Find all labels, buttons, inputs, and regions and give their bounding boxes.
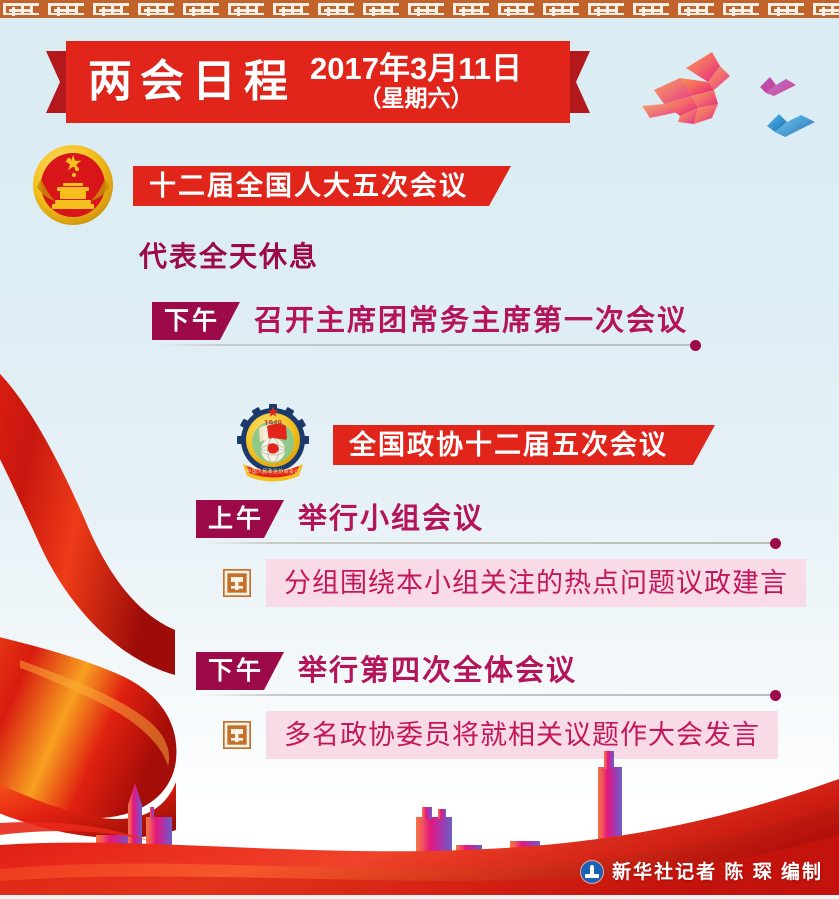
time-tag-morning-cppcc-label: 上午 <box>208 507 264 532</box>
cppcc-event-afternoon: 举行第四次全体会议 <box>298 657 577 686</box>
cppcc-event-morning: 举行小组会议 <box>298 505 484 534</box>
header-ribbon: 两会日程 2017年3月11日 （星期六） <box>46 41 590 123</box>
page-title: 两会日程 <box>88 60 296 104</box>
bottom-scene: 新华社记者 陈 琛 编制 <box>0 749 839 899</box>
header-weekday: （星期六） <box>358 87 473 110</box>
bird-small-blue-icon <box>763 108 819 140</box>
section-banner-npc: 十二届全国人大五次会议 <box>133 166 511 206</box>
china-national-emblem-icon <box>31 143 115 227</box>
bird-large-orange-icon <box>634 48 754 138</box>
cppcc-morning-detail-text: 分组围绕本小组关注的热点问题议政建言 <box>284 570 788 597</box>
header-date: 2017年3月11日 （星期六） <box>310 53 522 110</box>
header-date-line: 2017年3月11日 <box>310 53 522 85</box>
top-meander-border <box>0 0 839 18</box>
npc-row-afternoon: 下午 召开主席团常务主席第一次会议 <box>152 302 688 340</box>
cppcc-morning-rule <box>204 542 776 544</box>
cppcc-emblem-icon: 1949 中国人民政治协商会议 <box>229 402 317 490</box>
cppcc-morning-detail-box: 分组围绕本小组关注的热点问题议政建言 <box>266 559 806 607</box>
seal-square-icon <box>222 568 252 598</box>
npc-all-day-note: 代表全天休息 <box>139 243 319 271</box>
time-tag-afternoon-npc: 下午 <box>152 302 240 340</box>
xinhua-logo-icon <box>581 861 603 883</box>
bird-small-purple-icon <box>756 73 800 99</box>
infographic-poster: 两会日程 2017年3月11日 （星期六） <box>0 0 839 899</box>
cppcc-row-afternoon: 下午 举行第四次全体会议 <box>196 652 577 690</box>
ribbon-body: 两会日程 2017年3月11日 （星期六） <box>66 41 570 123</box>
npc-row-rule <box>160 344 696 346</box>
time-tag-morning-cppcc: 上午 <box>196 500 284 538</box>
cppcc-morning-detail-row: 分组围绕本小组关注的热点问题议政建言 <box>222 559 806 607</box>
credit-line: 新华社记者 陈 琛 编制 <box>581 861 823 883</box>
section-banner-cppcc-label: 全国政协十二届五次会议 <box>349 432 668 459</box>
section-banner-cppcc: 全国政协十二届五次会议 <box>333 425 715 465</box>
cppcc-row-morning: 上午 举行小组会议 <box>196 500 484 538</box>
section-banner-npc-label: 十二届全国人大五次会议 <box>149 173 468 200</box>
bottom-edge-line <box>0 895 839 899</box>
credit-text: 新华社记者 陈 琛 编制 <box>612 863 823 882</box>
npc-event-afternoon: 召开主席团常务主席第一次会议 <box>254 307 688 336</box>
time-tag-afternoon-cppcc: 下午 <box>196 652 284 690</box>
time-tag-afternoon-npc-label: 下午 <box>164 309 220 334</box>
time-tag-afternoon-cppcc-label: 下午 <box>208 659 264 684</box>
cppcc-afternoon-detail-text: 多名政协委员将就相关议题作大会发言 <box>284 722 760 749</box>
svg-text:中国人民政治协商会议: 中国人民政治协商会议 <box>246 468 299 475</box>
seal-square-icon-2 <box>222 720 252 750</box>
cppcc-afternoon-rule <box>204 694 776 696</box>
